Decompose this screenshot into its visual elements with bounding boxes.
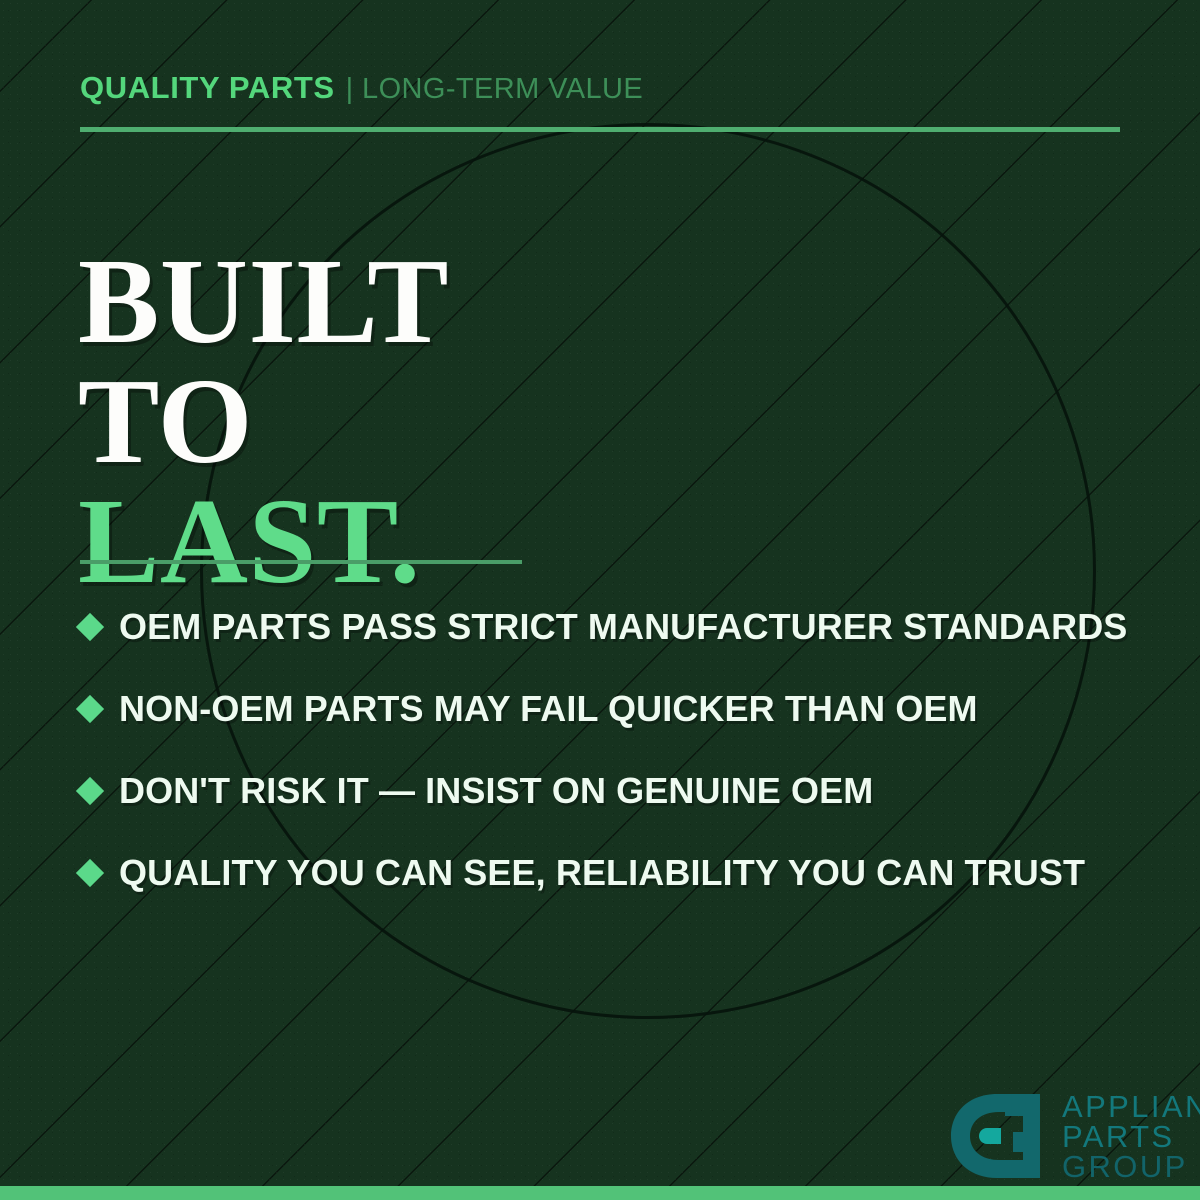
bottom-accent-bar	[0, 1186, 1200, 1200]
list-item: OEM PARTS PASS STRICT MANUFACTURER STAND…	[80, 586, 1140, 668]
benefit-list: OEM PARTS PASS STRICT MANUFACTURER STAND…	[80, 586, 1140, 914]
headline-line-1: BUILT	[78, 242, 449, 362]
headline-underline-rule	[80, 560, 522, 564]
g-monogram-icon	[943, 1088, 1051, 1189]
list-item: DON'T RISK IT — INSIST ON GENUINE OEM	[80, 750, 1140, 832]
logo-word-group: GROUP	[1062, 1152, 1200, 1182]
eyebrow-secondary-label: | LONG-TERM VALUE	[346, 73, 643, 106]
eyebrow-primary-label: QUALITY PARTS	[80, 70, 335, 106]
poster-canvas: QUALITY PARTS | LONG-TERM VALUE BUILT TO…	[0, 0, 1200, 1200]
list-item-label: NON-OEM PARTS MAY FAIL QUICKER THAN OEM	[119, 688, 978, 730]
diamond-bullet-icon	[76, 859, 104, 887]
logo-word-parts: PARTS	[1062, 1122, 1200, 1152]
list-item: NON-OEM PARTS MAY FAIL QUICKER THAN OEM	[80, 668, 1140, 750]
headline: BUILT TO LAST.	[78, 242, 449, 602]
headline-line-2: TO	[78, 362, 449, 482]
logo-wordmark: APPLIANCE PARTS GROUP	[1062, 1088, 1200, 1181]
list-item-label: OEM PARTS PASS STRICT MANUFACTURER STAND…	[119, 606, 1127, 648]
brand-logo: APPLIANCE PARTS GROUP	[943, 1088, 1200, 1189]
logo-word-appliance: APPLIANCE	[1062, 1092, 1200, 1122]
list-item-label: QUALITY YOU CAN SEE, RELIABILITY YOU CAN…	[119, 852, 1085, 894]
header-divider-rule	[80, 127, 1120, 132]
diamond-bullet-icon	[76, 695, 104, 723]
headline-line-3: LAST.	[78, 482, 449, 602]
eyebrow: QUALITY PARTS | LONG-TERM VALUE	[80, 70, 643, 106]
list-item: QUALITY YOU CAN SEE, RELIABILITY YOU CAN…	[80, 832, 1140, 914]
diamond-bullet-icon	[76, 613, 104, 641]
list-item-label: DON'T RISK IT — INSIST ON GENUINE OEM	[119, 770, 873, 812]
diamond-bullet-icon	[76, 777, 104, 805]
